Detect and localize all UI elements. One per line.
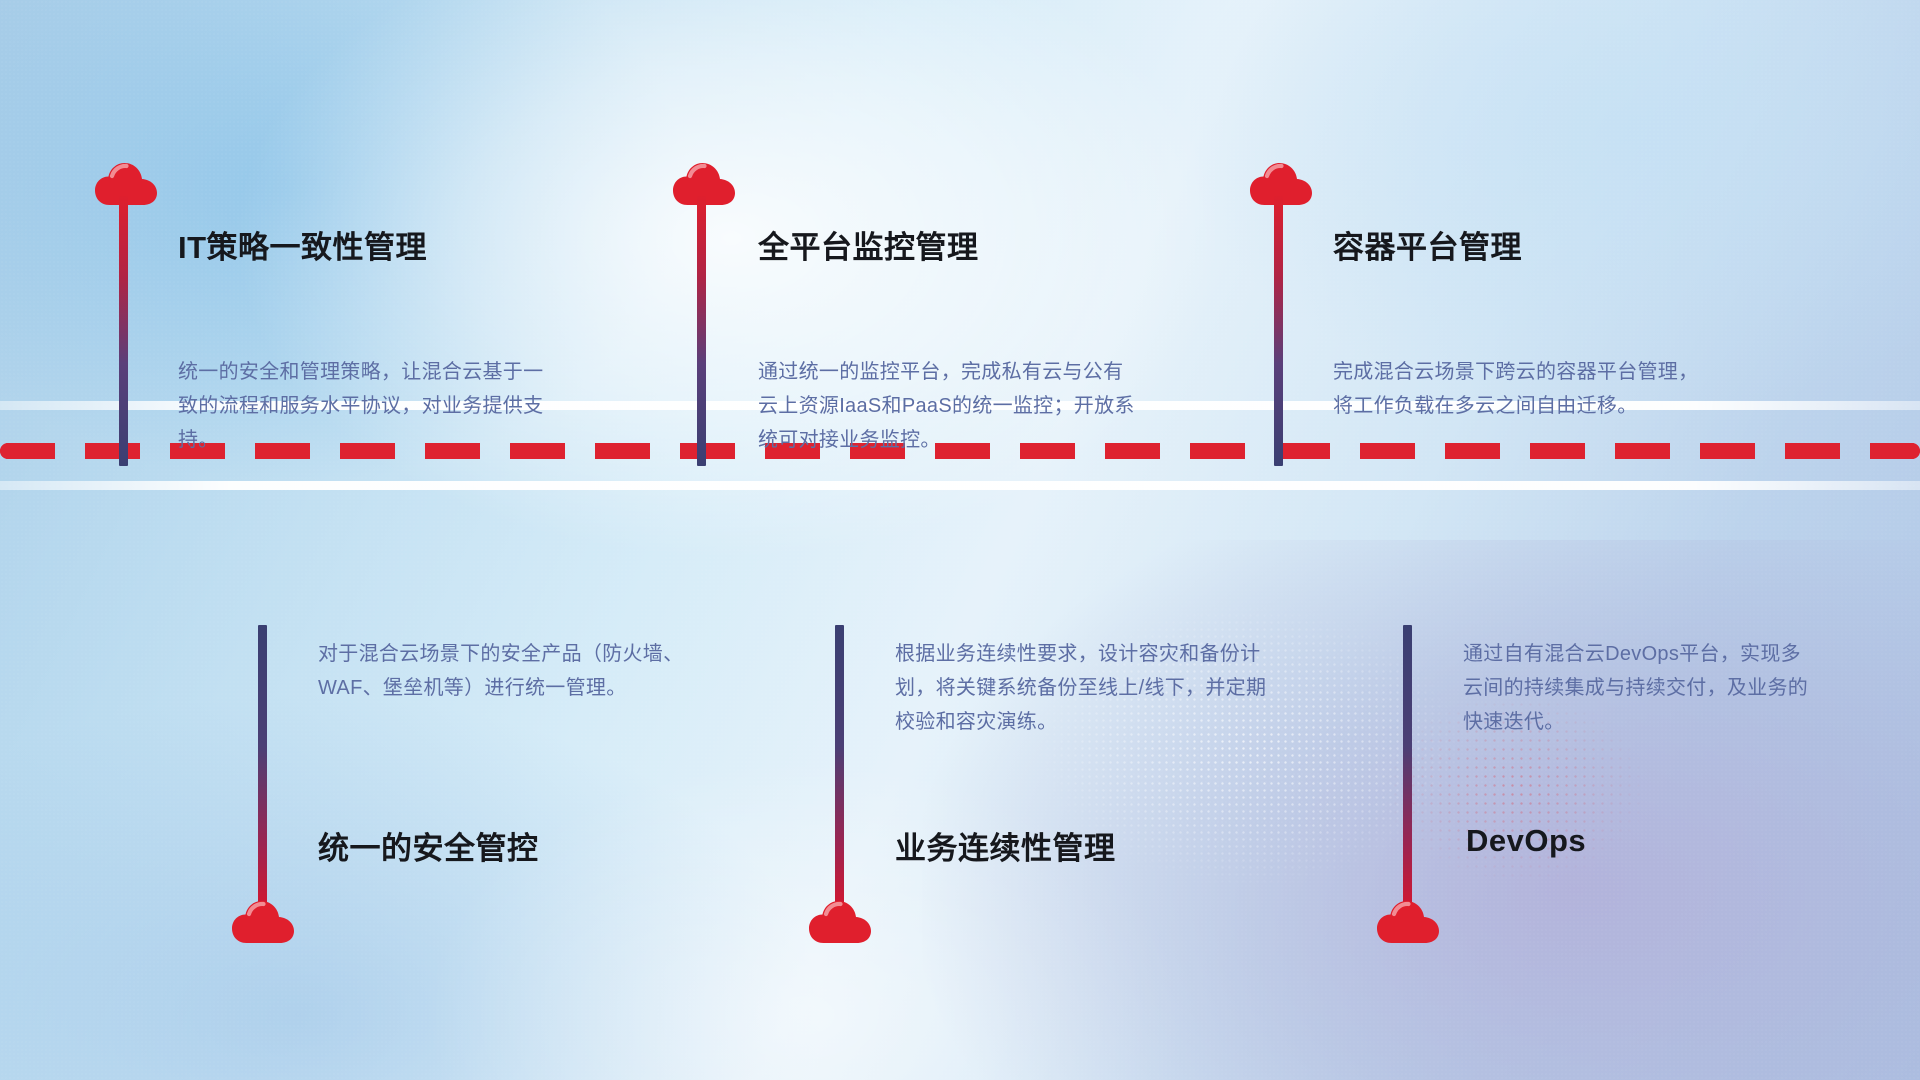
bottom-item-3-body: 通过自有混合云DevOps平台，实现多云间的持续集成与持续交付，及业务的快速迭代… [1463,637,1818,739]
road-band-lower [0,481,1920,490]
pin-stem [119,196,128,466]
infographic-canvas: IT策略一致性管理 统一的安全和管理策略，让混合云基于一致的流程和服务水平协议，… [0,0,1920,1080]
cloud-marker-icon [809,898,871,944]
bottom-item-3-title: DevOps [1466,823,1586,859]
top-item-3-body: 完成混合云场景下跨云的容器平台管理，将工作负载在多云之间自由迁移。 [1333,355,1713,423]
cloud-marker-icon [1377,898,1439,944]
bottom-item-1-title: 统一的安全管控 [318,823,539,868]
top-item-2-body: 通过统一的监控平台，完成私有云与公有云上资源IaaS和PaaS的统一监控；开放系… [758,355,1138,457]
bottom-item-1-body: 对于混合云场景下的安全产品（防火墙、WAF、堡垒机等）进行统一管理。 [318,637,698,705]
top-item-2-title: 全平台监控管理 [758,222,979,267]
bottom-item-2-title: 业务连续性管理 [895,823,1116,868]
pin-stem [697,196,706,466]
top-item-1-title: IT策略一致性管理 [178,222,427,267]
bottom-item-2-body: 根据业务连续性要求，设计容灾和备份计划，将关键系统备份至线上/线下，并定期校验和… [895,637,1275,739]
top-item-1-body: 统一的安全和管理策略，让混合云基于一致的流程和服务水平协议，对业务提供支持。 [178,355,558,457]
pin-stem [258,625,267,915]
top-item-3-title: 容器平台管理 [1333,222,1522,267]
pin-stem [1403,625,1412,915]
cloud-marker-icon [232,898,294,944]
pin-stem [1274,196,1283,466]
pin-stem [835,625,844,915]
